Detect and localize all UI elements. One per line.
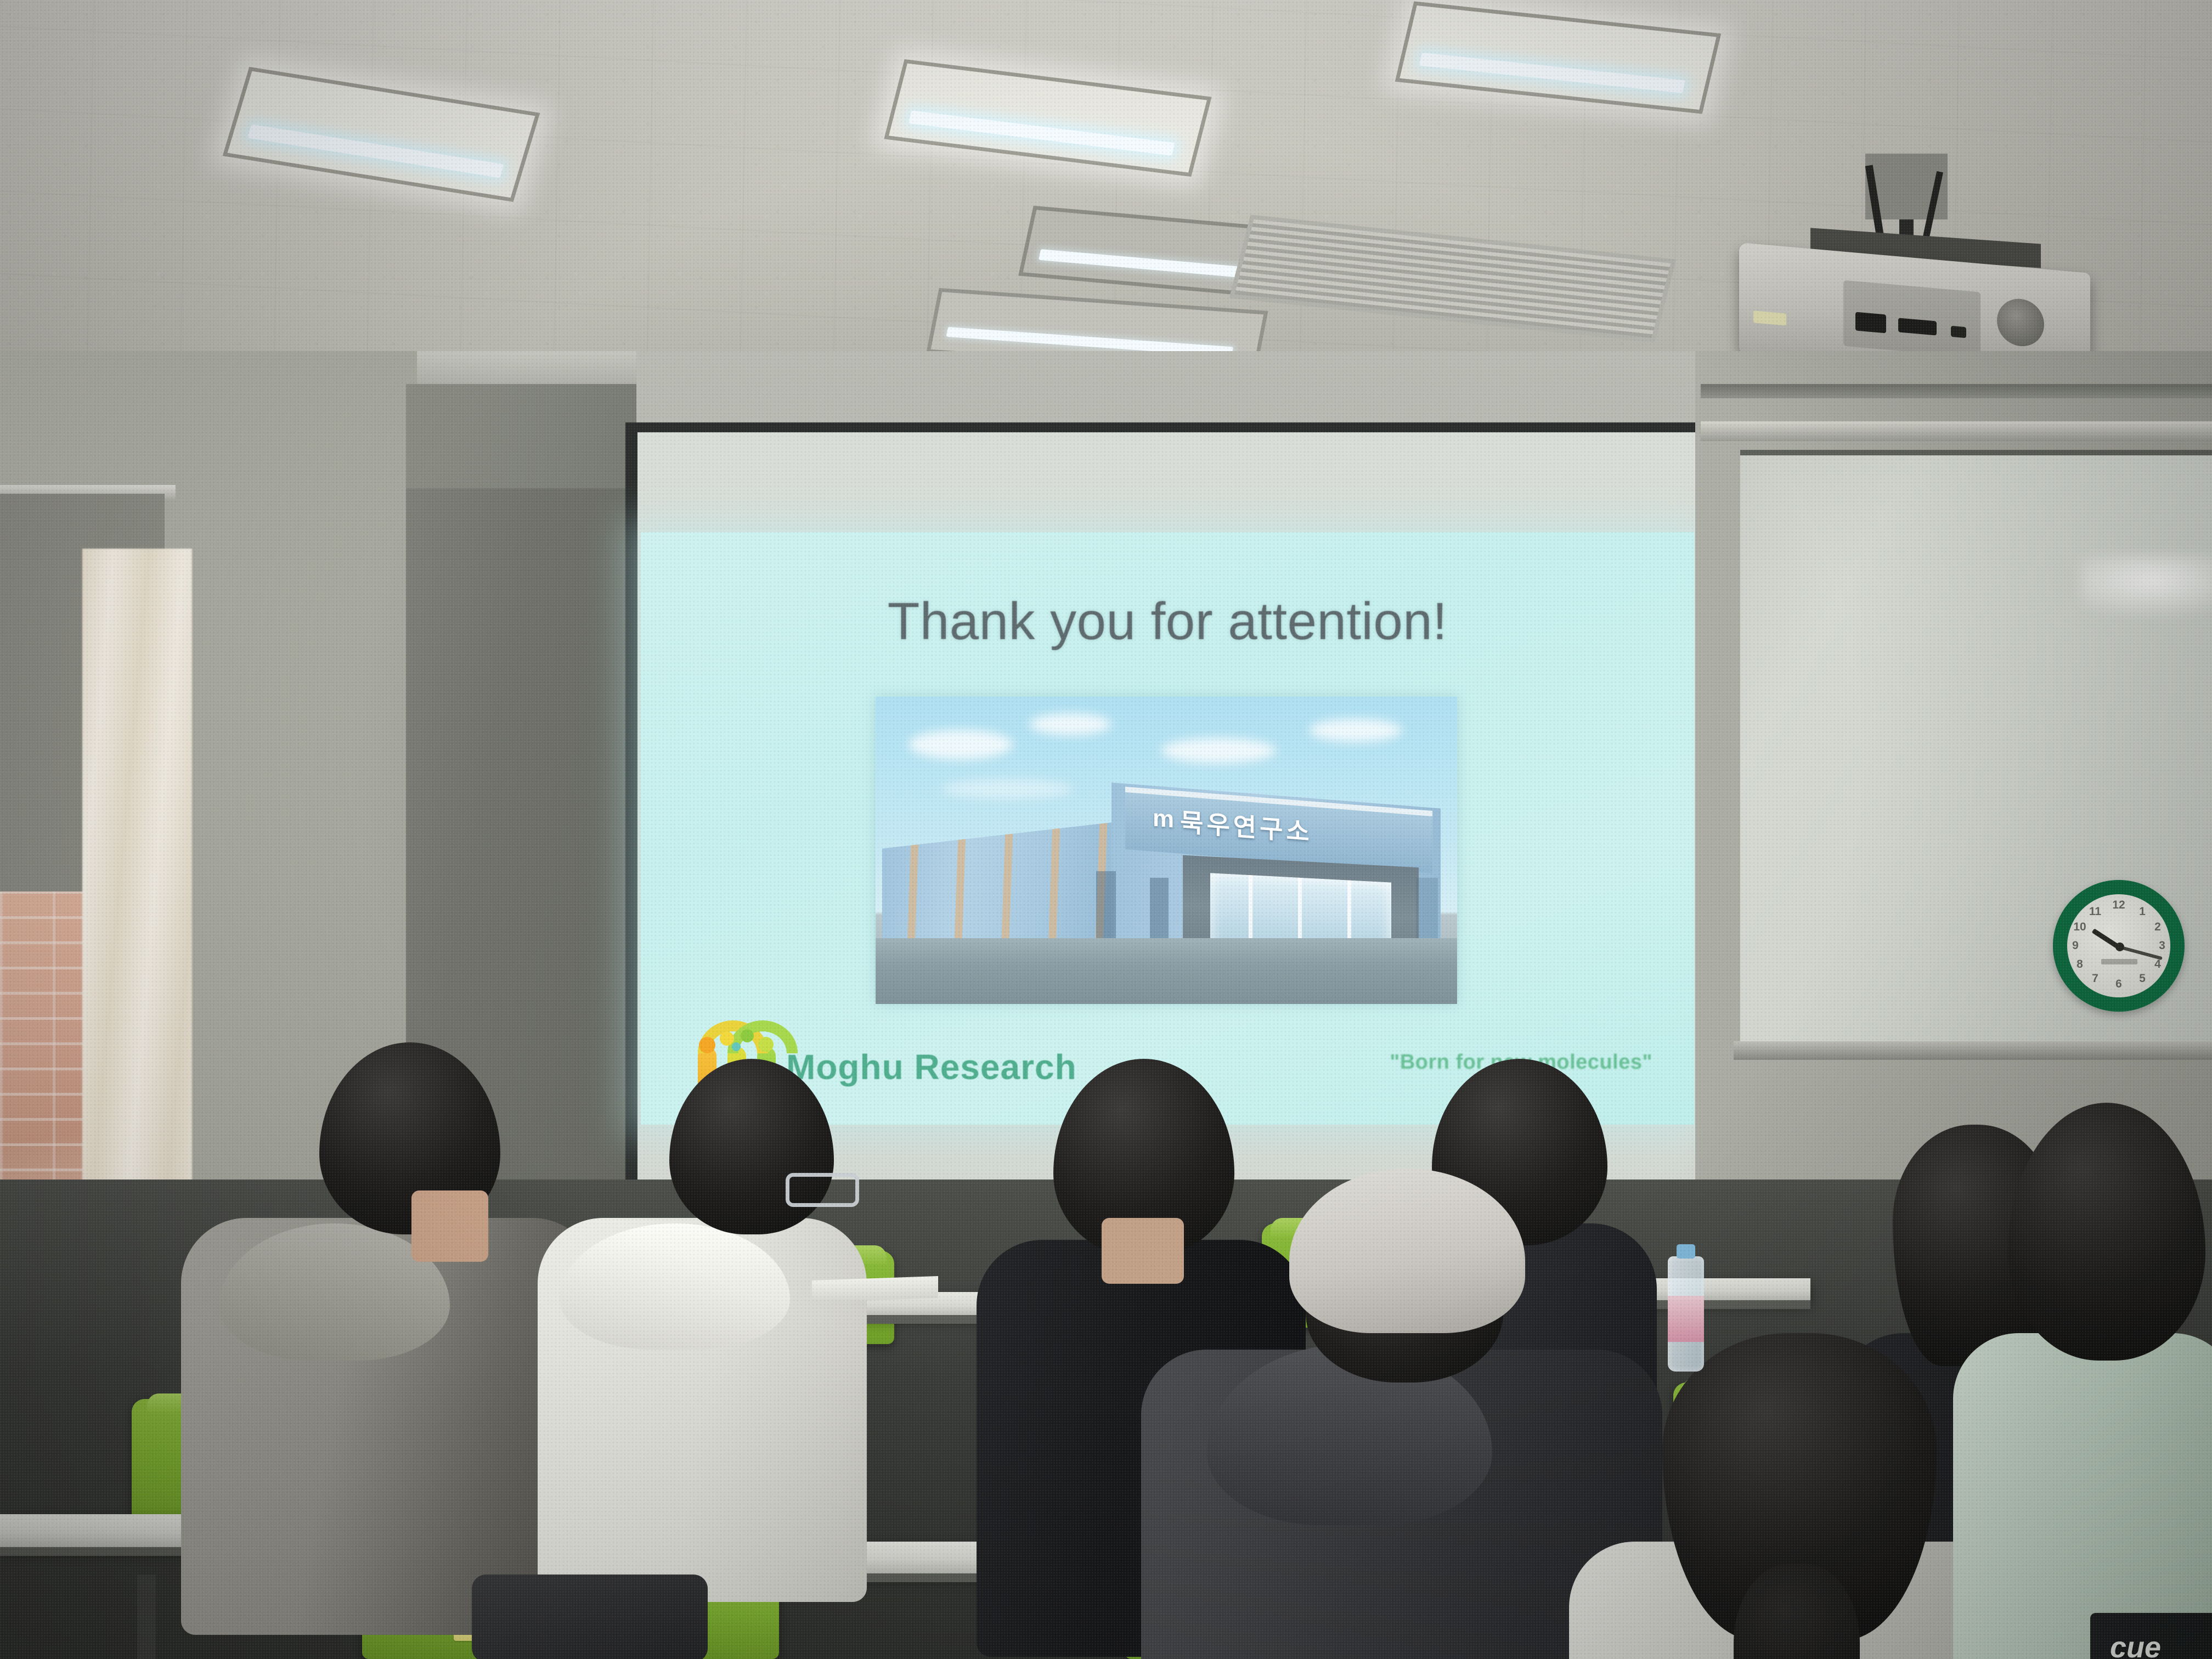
glasses-icon: [786, 1173, 859, 1207]
desk-leg: [137, 1575, 156, 1659]
projector-port: [1855, 312, 1886, 334]
slide-title: Thank you for attention!: [641, 591, 1694, 652]
cloud: [909, 730, 1013, 759]
cloud: [941, 779, 1073, 799]
clock-numeral: 3: [2155, 939, 2169, 952]
whiteboard-glare: [2080, 554, 2212, 620]
clock-center-pin: [2115, 943, 2124, 951]
logo-head-green: [741, 1029, 754, 1042]
clock-numeral: 9: [2068, 939, 2083, 952]
building-sign-mark: m: [1153, 804, 1172, 833]
wall-clock: 12 1 2 3 4 5 6 7 8 9 10 11: [2053, 880, 2185, 1012]
projector-label: [1753, 311, 1786, 325]
cloud: [1309, 719, 1402, 742]
cloud: [1161, 738, 1276, 763]
clock-numeral: 10: [2073, 921, 2087, 934]
clock-face: 12 1 2 3 4 5 6 7 8 9 10 11: [2067, 894, 2170, 997]
clock-numeral: 12: [2112, 899, 2126, 912]
building-forecourt: [876, 938, 1457, 1004]
person-neck: [1102, 1218, 1184, 1284]
clock-numeral: 4: [2151, 958, 2165, 971]
clock-numeral: 7: [2088, 972, 2102, 985]
person-torso: [1953, 1333, 2212, 1659]
cloud: [1029, 713, 1111, 735]
whiteboard-top-rail: [1701, 421, 2212, 441]
logo-head-orange: [699, 1037, 715, 1053]
bottle-cap: [1677, 1244, 1695, 1259]
moghu-wordmark: Moghu Research: [786, 1047, 1077, 1087]
clock-brand-text: [2101, 959, 2137, 964]
clock-numeral: 2: [2151, 921, 2165, 934]
whiteboard-marker-tray: [1734, 1041, 2212, 1060]
clock-numeral: 11: [2088, 905, 2102, 918]
clock-numeral: 5: [2135, 972, 2149, 985]
projected-slide: Thank you for attention! m 묵우연구소: [641, 532, 1694, 1125]
projector-indicator-led: [1951, 326, 1966, 338]
bottle-label: [1668, 1296, 1704, 1342]
logo-head-lime: [758, 1037, 774, 1052]
notebook-on-desk: [812, 1276, 938, 1302]
classroom-photo: Thank you for attention! m 묵우연구소: [0, 0, 2212, 1659]
logo-head-yellow: [720, 1031, 734, 1046]
person-neck: [411, 1190, 488, 1262]
clock-numeral: 1: [2135, 905, 2149, 918]
projector-lens: [1997, 297, 2044, 348]
clock-numeral: 8: [2073, 958, 2087, 971]
bag-on-desk: [472, 1575, 708, 1659]
logo-accent-teal: [732, 1042, 741, 1051]
ceiling-curtain-track: [1701, 384, 2212, 398]
shirt-graphic-text: cue: [2110, 1630, 2161, 1659]
slide-photo-building: m 묵우연구소: [876, 697, 1457, 1004]
clock-numeral: 6: [2112, 978, 2126, 991]
water-bottle[interactable]: [1668, 1256, 1704, 1372]
wall-column-header: [406, 384, 636, 488]
